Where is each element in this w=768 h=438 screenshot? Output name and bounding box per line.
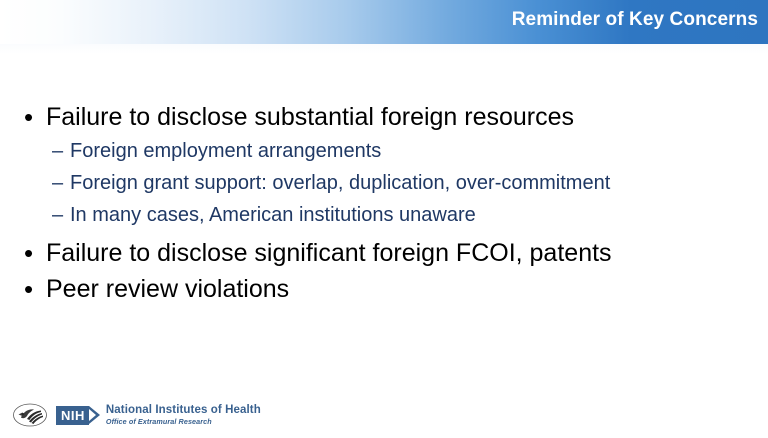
nih-wordmark: National Institutes of Health Office of … bbox=[106, 404, 261, 426]
footer-branding: NIH National Institutes of Health Office… bbox=[12, 398, 261, 432]
bullet-marker-dash: – bbox=[52, 136, 70, 167]
bullet-marker-dot: • bbox=[22, 272, 46, 306]
nih-acronym: NIH bbox=[56, 406, 89, 425]
bullet-marker-dash: – bbox=[52, 168, 70, 199]
hhs-eagle-icon bbox=[12, 401, 50, 429]
bullet-text: Peer review violations bbox=[46, 272, 289, 306]
bullet-marker-dot: • bbox=[22, 100, 46, 134]
slide-body: • Failure to disclose substantial foreig… bbox=[0, 100, 768, 308]
bullet-text: In many cases, American institutions una… bbox=[70, 200, 476, 231]
nih-badge: NIH bbox=[56, 406, 100, 425]
agency-name: National Institutes of Health bbox=[106, 404, 261, 417]
bullet-text: Failure to disclose significant foreign … bbox=[46, 236, 612, 270]
bullet-marker-dash: – bbox=[52, 200, 70, 231]
bullet-text: Failure to disclose substantial foreign … bbox=[46, 100, 574, 134]
page-title: Reminder of Key Concerns bbox=[512, 8, 758, 32]
bullet-text: Foreign grant support: overlap, duplicat… bbox=[70, 168, 610, 199]
bullet-text: Foreign employment arrangements bbox=[70, 136, 381, 167]
bullet-item-level1: • Failure to disclose substantial foreig… bbox=[0, 100, 768, 134]
nih-chevron-icon bbox=[89, 406, 100, 425]
bullet-item-level1: • Peer review violations bbox=[0, 272, 768, 306]
bullet-marker-dot: • bbox=[22, 236, 46, 270]
office-name: Office of Extramural Research bbox=[106, 417, 261, 426]
bullet-item-level2: – Foreign employment arrangements bbox=[0, 136, 768, 167]
bullet-item-level1: • Failure to disclose significant foreig… bbox=[0, 236, 768, 270]
bullet-item-level2: – Foreign grant support: overlap, duplic… bbox=[0, 168, 768, 199]
header-underglow bbox=[0, 44, 768, 54]
bullet-item-level2: – In many cases, American institutions u… bbox=[0, 200, 768, 231]
